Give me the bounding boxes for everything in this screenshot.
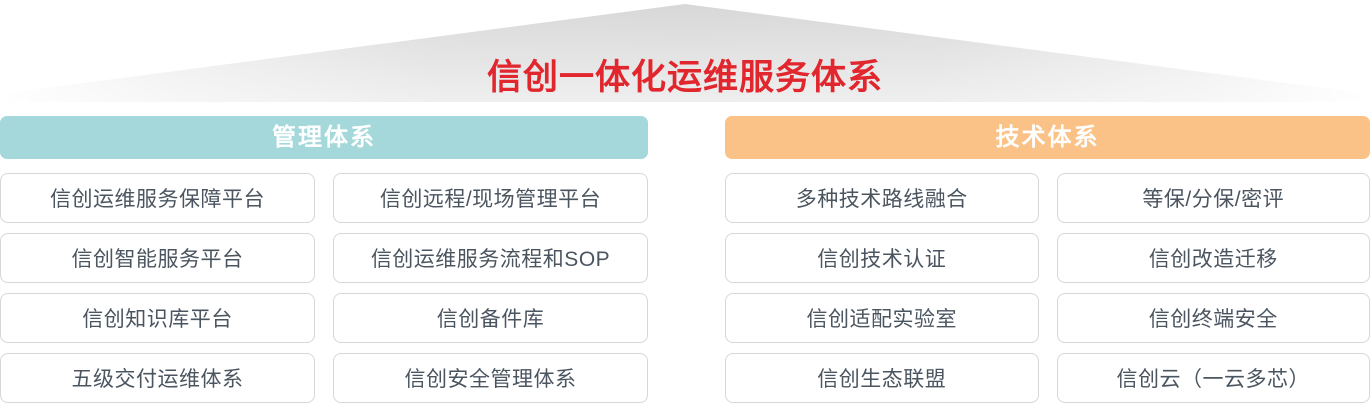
section-grid-technology: 多种技术路线融合 等保/分保/密评 信创技术认证 信创改造迁移 信创适配实验室 …	[725, 173, 1370, 403]
cell-management-c1-r1[interactable]: 信创运维服务保障平台	[0, 173, 315, 223]
section-management: 管理体系 信创运维服务保障平台 信创远程/现场管理平台 信创智能服务平台 信创运…	[0, 116, 648, 418]
cell-technology-c2-r1[interactable]: 等保/分保/密评	[1057, 173, 1370, 223]
cell-technology-c1-r4[interactable]: 信创生态联盟	[725, 353, 1039, 403]
section-technology: 技术体系 多种技术路线融合 等保/分保/密评 信创技术认证 信创改造迁移 信创适…	[725, 116, 1370, 418]
cell-management-c1-r2[interactable]: 信创智能服务平台	[0, 233, 315, 283]
cell-technology-c2-r4[interactable]: 信创云（一云多芯）	[1057, 353, 1370, 403]
panel-separator	[648, 116, 725, 418]
cell-technology-c1-r1[interactable]: 多种技术路线融合	[725, 173, 1039, 223]
cell-management-c2-r1[interactable]: 信创远程/现场管理平台	[333, 173, 648, 223]
cell-technology-c2-r3[interactable]: 信创终端安全	[1057, 293, 1370, 343]
cell-technology-c2-r2[interactable]: 信创改造迁移	[1057, 233, 1370, 283]
page-title: 信创一体化运维服务体系	[0, 56, 1370, 100]
cell-management-c1-r3[interactable]: 信创知识库平台	[0, 293, 315, 343]
cell-management-c2-r4[interactable]: 信创安全管理体系	[333, 353, 648, 403]
cell-management-c1-r4[interactable]: 五级交付运维体系	[0, 353, 315, 403]
section-grid-management: 信创运维服务保障平台 信创远程/现场管理平台 信创智能服务平台 信创运维服务流程…	[0, 173, 648, 403]
section-header-technology: 技术体系	[725, 116, 1370, 159]
cell-management-c2-r3[interactable]: 信创备件库	[333, 293, 648, 343]
architecture-diagram: 信创一体化运维服务体系 管理体系 信创运维服务保障平台 信创远程/现场管理平台 …	[0, 0, 1370, 418]
cell-management-c2-r2[interactable]: 信创运维服务流程和SOP	[333, 233, 648, 283]
cell-technology-c1-r3[interactable]: 信创适配实验室	[725, 293, 1039, 343]
panels-container: 管理体系 信创运维服务保障平台 信创远程/现场管理平台 信创智能服务平台 信创运…	[0, 116, 1370, 418]
section-header-management: 管理体系	[0, 116, 648, 159]
cell-technology-c1-r2[interactable]: 信创技术认证	[725, 233, 1039, 283]
